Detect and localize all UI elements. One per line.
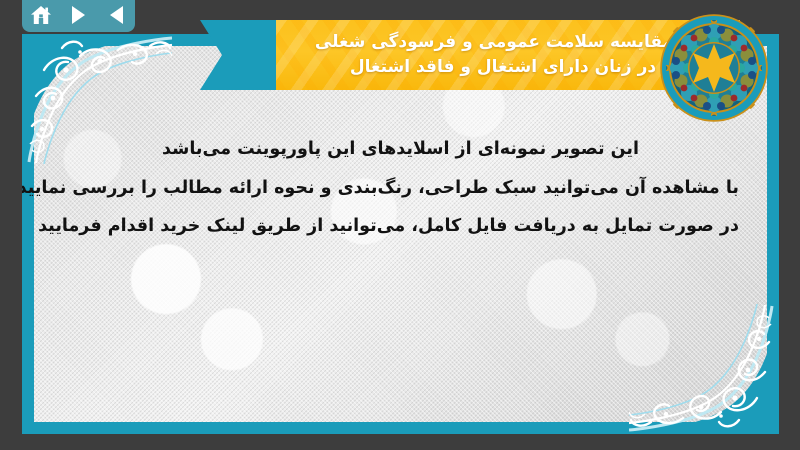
persian-medallion (660, 14, 768, 122)
arabesque-corner-bottom-right (629, 304, 779, 434)
triangle-right-icon (72, 6, 85, 24)
body-line-1: این تصویر نمونه‌ای از اسلایدهای این پاور… (62, 130, 739, 169)
slide-title-line-1: مقایسه سلامت عمومی و فرسودگی شغلی (315, 30, 701, 56)
slide-title-line-2: در زنان دارای اشتغال و فاقد اشتغال (350, 55, 666, 81)
body-line-2: با مشاهده آن می‌توانید سبک طراحی، رنگ‌بن… (62, 169, 739, 208)
slide-viewer: این تصویر نمونه‌ای از اسلایدهای این پاور… (0, 0, 800, 450)
banner-ribbon-tail (200, 20, 280, 90)
navigation-bar (22, 0, 135, 32)
body-line-3: در صورت تمایل به دریافت فایل کامل، می‌تو… (62, 207, 739, 246)
forward-button[interactable] (66, 2, 92, 28)
triangle-left-icon (110, 6, 123, 24)
title-banner: مقایسه سلامت عمومی و فرسودگی شغلی در زنا… (200, 20, 740, 90)
back-button[interactable] (103, 2, 129, 28)
home-icon (30, 5, 52, 25)
home-button[interactable] (28, 2, 54, 28)
slide-body-text: این تصویر نمونه‌ای از اسلایدهای این پاور… (62, 130, 739, 246)
